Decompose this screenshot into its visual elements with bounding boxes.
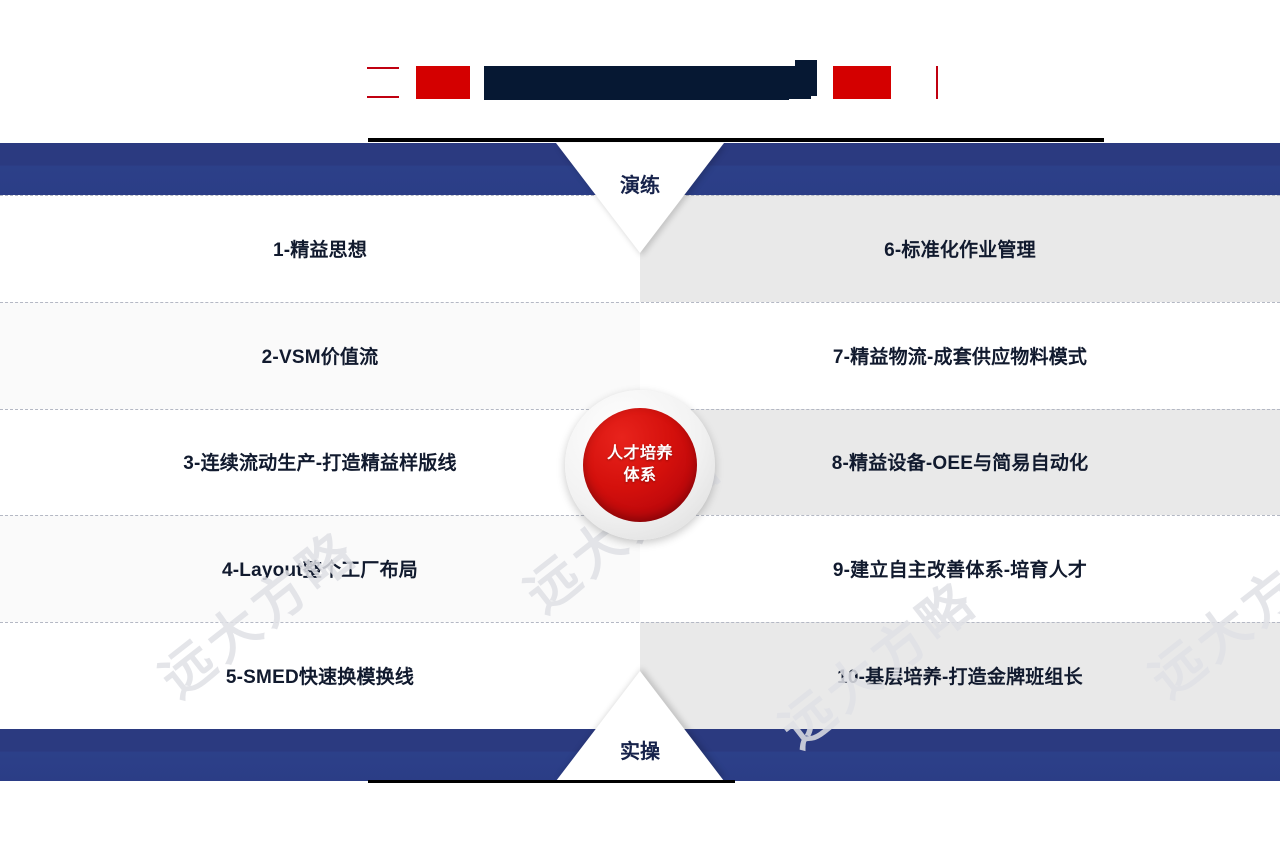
row-divider bbox=[0, 622, 1280, 623]
navy-title-tail bbox=[795, 60, 817, 96]
red-block-left bbox=[416, 66, 470, 99]
row-4-right-cell[interactable]: 9-建立自主改善体系-培育人才 bbox=[640, 515, 1280, 622]
row-divider bbox=[0, 302, 1280, 303]
row-3-left-cell[interactable]: 3-连续流动生产-打造精益样版线 bbox=[0, 409, 640, 516]
row-4-right-label: 9-建立自主改善体系-培育人才 bbox=[833, 555, 1087, 582]
row-4-left-cell[interactable]: 4-Layout整个工厂布局 bbox=[0, 515, 640, 622]
row-5-right-label: 10-基层培养-打造金牌班组长 bbox=[837, 662, 1083, 689]
row-3-left-label: 3-连续流动生产-打造精益样版线 bbox=[183, 448, 456, 475]
page-header bbox=[0, 0, 1280, 143]
row-1-left-label: 1-精益思想 bbox=[273, 235, 367, 262]
row-5-left-label: 5-SMED快速换模换线 bbox=[226, 662, 414, 689]
navy-title-underline bbox=[484, 94, 789, 100]
red-divider-bar bbox=[936, 66, 938, 99]
row-3-right-cell[interactable]: 8-精益设备-OEE与简易自动化 bbox=[640, 409, 1280, 516]
training-system-diagram: 1-精益思想 6-标准化作业管理 2-VSM价值流 7-精益物流-成套供应物料模… bbox=[0, 143, 1280, 781]
row-2-left-cell[interactable]: 2-VSM价值流 bbox=[0, 302, 640, 409]
top-triangle-shape bbox=[556, 143, 724, 253]
center-hub-disc: 人才培养 体系 bbox=[583, 408, 697, 522]
red-double-line-mark bbox=[367, 67, 399, 98]
bottom-rule bbox=[368, 780, 735, 783]
top-band-label: 演练 bbox=[556, 169, 724, 198]
row-1-right-label: 6-标准化作业管理 bbox=[884, 235, 1036, 262]
row-1-right-cell[interactable]: 6-标准化作业管理 bbox=[640, 195, 1280, 302]
row-2-right-label: 7-精益物流-成套供应物料模式 bbox=[833, 342, 1087, 369]
center-hub-text: 人才培养 体系 bbox=[607, 443, 673, 487]
row-2-left-label: 2-VSM价值流 bbox=[262, 342, 379, 369]
row-5-left-cell[interactable]: 5-SMED快速换模换线 bbox=[0, 622, 640, 729]
center-hub-line-2: 体系 bbox=[607, 465, 673, 487]
red-block-right bbox=[833, 66, 891, 99]
center-hub[interactable]: 人才培养 体系 bbox=[565, 390, 715, 540]
row-1-left-cell[interactable]: 1-精益思想 bbox=[0, 195, 640, 302]
bottom-triangle-shape bbox=[556, 671, 724, 781]
center-hub-line-1: 人才培养 bbox=[607, 443, 673, 465]
row-3-right-label: 8-精益设备-OEE与简易自动化 bbox=[832, 448, 1089, 475]
top-rule bbox=[368, 138, 1104, 142]
row-4-left-label: 4-Layout整个工厂布局 bbox=[222, 555, 418, 582]
row-2-right-cell[interactable]: 7-精益物流-成套供应物料模式 bbox=[640, 302, 1280, 409]
bottom-band-label: 实操 bbox=[556, 735, 724, 764]
row-5-right-cell[interactable]: 10-基层培养-打造金牌班组长 bbox=[640, 622, 1280, 729]
